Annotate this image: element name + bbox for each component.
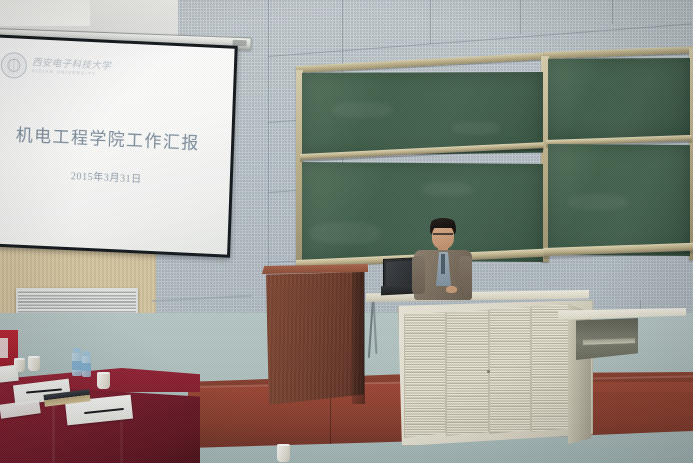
bottle-cap [83, 351, 90, 356]
paper-cup [97, 372, 110, 389]
chalk-smudge [452, 122, 500, 134]
chalk-smudge [332, 102, 392, 118]
av-cabinet-door-4[interactable] [531, 304, 571, 432]
presenter-tie [441, 254, 445, 274]
chalkboard-gloss [302, 162, 543, 262]
chalk-smudge [422, 182, 472, 196]
presentation-slide: 西安电子科技大学 XIDIAN UNIVERSITY 机电工程学院工作汇报 20… [0, 37, 235, 254]
projection-screen-assembly: 西安电子科技大学 XIDIAN UNIVERSITY 机电工程学院工作汇报 20… [0, 28, 254, 250]
front-table-cloth-fold [52, 406, 55, 463]
bottle-label [82, 363, 91, 371]
slide-logo-block: 西安电子科技大学 XIDIAN UNIVERSITY [0, 52, 111, 83]
chalkboard-panel-upper-right [548, 58, 690, 140]
projection-screen-frame: 西安电子科技大学 XIDIAN UNIVERSITY 机电工程学院工作汇报 20… [0, 34, 238, 258]
slide-date: 2015年3月31日 [0, 163, 230, 190]
presenter-right-arm [459, 256, 472, 294]
av-cabinet-lock[interactable] [487, 370, 490, 373]
wall-seam [268, 0, 269, 300]
wall-seam [612, 0, 613, 24]
presenter-left-arm [412, 256, 425, 294]
chalkboard-panel-lower-right [548, 144, 690, 256]
paper-cup [14, 358, 25, 372]
front-table-cloth-fold [120, 414, 123, 463]
av-cabinet-door-1[interactable] [404, 312, 446, 438]
lectern-side-shadow [352, 272, 365, 404]
presenter-hair-fringe [431, 218, 455, 228]
projection-screen-surface: 西安电子科技大学 XIDIAN UNIVERSITY 机电工程学院工作汇报 20… [0, 37, 235, 254]
chalk-smudge [310, 222, 380, 244]
red-box-label [0, 338, 8, 358]
wall-seam [430, 0, 431, 44]
bottle-label [72, 361, 82, 370]
paper-cup-on-stage [277, 444, 290, 462]
slide-title: 机电工程学院工作汇报 [0, 119, 232, 156]
bottle-cap [73, 348, 81, 353]
green-chalkboard [296, 44, 693, 298]
lecture-hall-photo: 西安电子科技大学 XIDIAN UNIVERSITY 机电工程学院工作汇报 20… [0, 0, 693, 463]
paper-cup [28, 356, 40, 371]
av-cabinet-door-2[interactable] [446, 310, 489, 436]
presenter-glasses [433, 233, 453, 235]
water-bottle [82, 355, 91, 377]
wall-upper-left-highlight [0, 0, 90, 26]
water-bottle [72, 352, 82, 376]
chalkboard-frame-top-right [544, 46, 693, 59]
chalkboard-gloss [548, 58, 690, 140]
presenter-hand [446, 286, 457, 293]
av-cabinet-door-3[interactable] [489, 307, 531, 434]
slide-logo-text: 西安电子科技大学 XIDIAN UNIVERSITY [32, 59, 112, 78]
chalk-smudge [568, 194, 628, 210]
chalkboard-panel-lower-left [302, 162, 543, 262]
chalkboard-frame-left [296, 70, 303, 266]
university-seal-icon [0, 52, 27, 79]
lectern-wood-grain [266, 272, 364, 405]
lectern-body [266, 272, 364, 405]
wall-seam [520, 0, 521, 34]
chalkboard-frame-top-left [296, 52, 546, 73]
